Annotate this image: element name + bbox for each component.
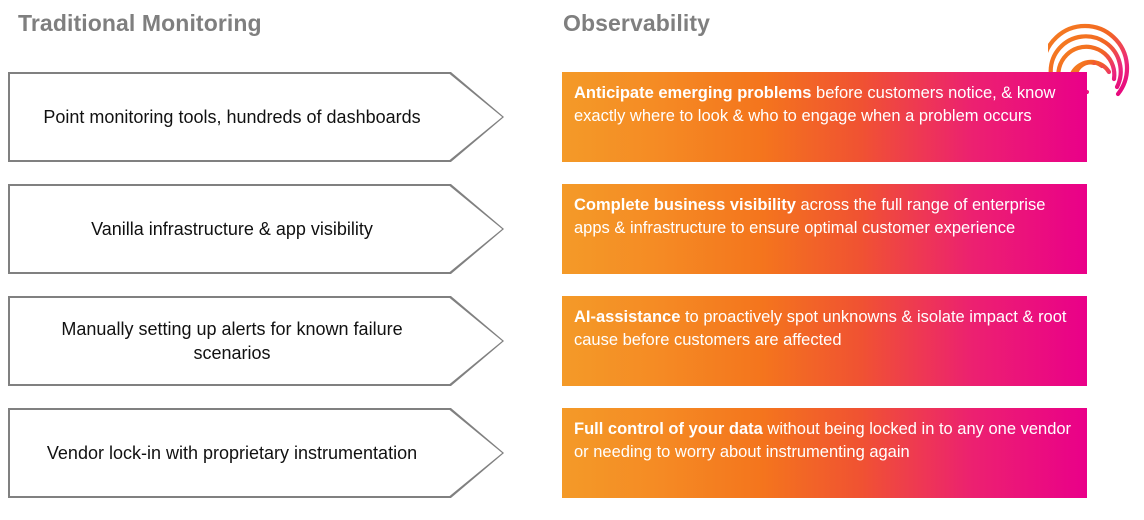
list-item[interactable]: Vanilla infrastructure & app visibility (8, 184, 504, 274)
list-item[interactable]: Vendor lock-in with proprietary instrume… (8, 408, 504, 498)
list-item[interactable]: Anticipate emerging problems before cust… (562, 72, 1087, 162)
list-item[interactable]: Manually setting up alerts for known fai… (8, 296, 504, 386)
card-lead-text: Complete business visibility (574, 196, 796, 214)
card-lead-text: Anticipate emerging problems (574, 84, 811, 102)
page-title-observability: Observability (563, 10, 710, 37)
arrow-label: Manually setting up alerts for known fai… (30, 296, 434, 386)
card-text: Full control of your data without being … (562, 408, 1087, 465)
card-lead-text: AI-assistance (574, 308, 680, 326)
observability-list: Anticipate emerging problems before cust… (562, 72, 1087, 520)
card-text: Anticipate emerging problems before cust… (562, 72, 1087, 129)
list-item[interactable]: Point monitoring tools, hundreds of dash… (8, 72, 504, 162)
list-item[interactable]: Complete business visibility across the … (562, 184, 1087, 274)
card-text: Complete business visibility across the … (562, 184, 1087, 241)
card-text: AI-assistance to proactively spot unknow… (562, 296, 1087, 353)
page-title-traditional-monitoring: Traditional Monitoring (18, 10, 262, 37)
list-item[interactable]: Full control of your data without being … (562, 408, 1087, 498)
arrow-label: Vendor lock-in with proprietary instrume… (30, 408, 434, 498)
card-lead-text: Full control of your data (574, 420, 763, 438)
traditional-monitoring-list: Point monitoring tools, hundreds of dash… (8, 72, 508, 520)
list-item[interactable]: AI-assistance to proactively spot unknow… (562, 296, 1087, 386)
arrow-label: Point monitoring tools, hundreds of dash… (30, 72, 434, 162)
arrow-label: Vanilla infrastructure & app visibility (30, 184, 434, 274)
